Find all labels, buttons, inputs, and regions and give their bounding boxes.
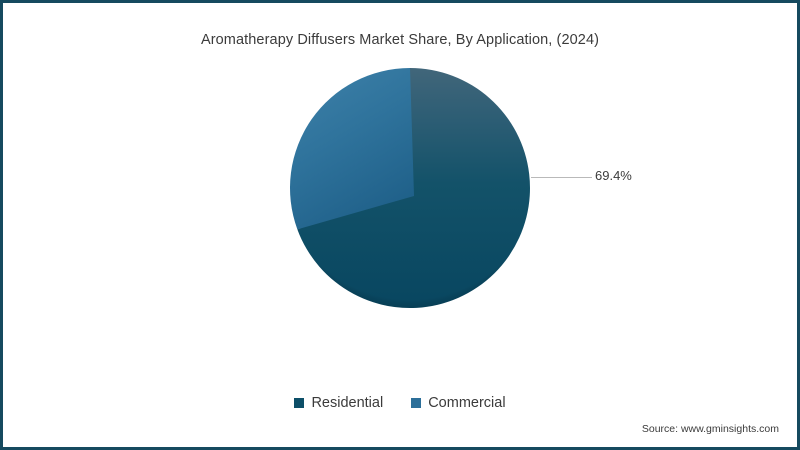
legend-item-residential[interactable]: Residential [294,395,383,411]
chart-canvas: Aromatherapy Diffusers Market Share, By … [3,3,797,447]
data-label-leader-line [531,177,592,178]
pie-rim-shading [290,68,530,308]
pie-data-label-residential: 69.4% [595,168,632,183]
legend-swatch-residential [294,398,304,408]
legend-swatch-commercial [411,398,421,408]
source-attribution: Source: www.gminsights.com [642,423,779,435]
chart-legend: Residential Commercial [3,395,797,411]
pie-chart [288,66,532,310]
legend-label-commercial: Commercial [428,395,505,411]
legend-label-residential: Residential [311,395,383,411]
chart-image-frame: Aromatherapy Diffusers Market Share, By … [0,0,800,450]
pie-svg [288,66,532,310]
legend-item-commercial[interactable]: Commercial [411,395,505,411]
pie-plot-area: 69.4% [3,3,797,373]
